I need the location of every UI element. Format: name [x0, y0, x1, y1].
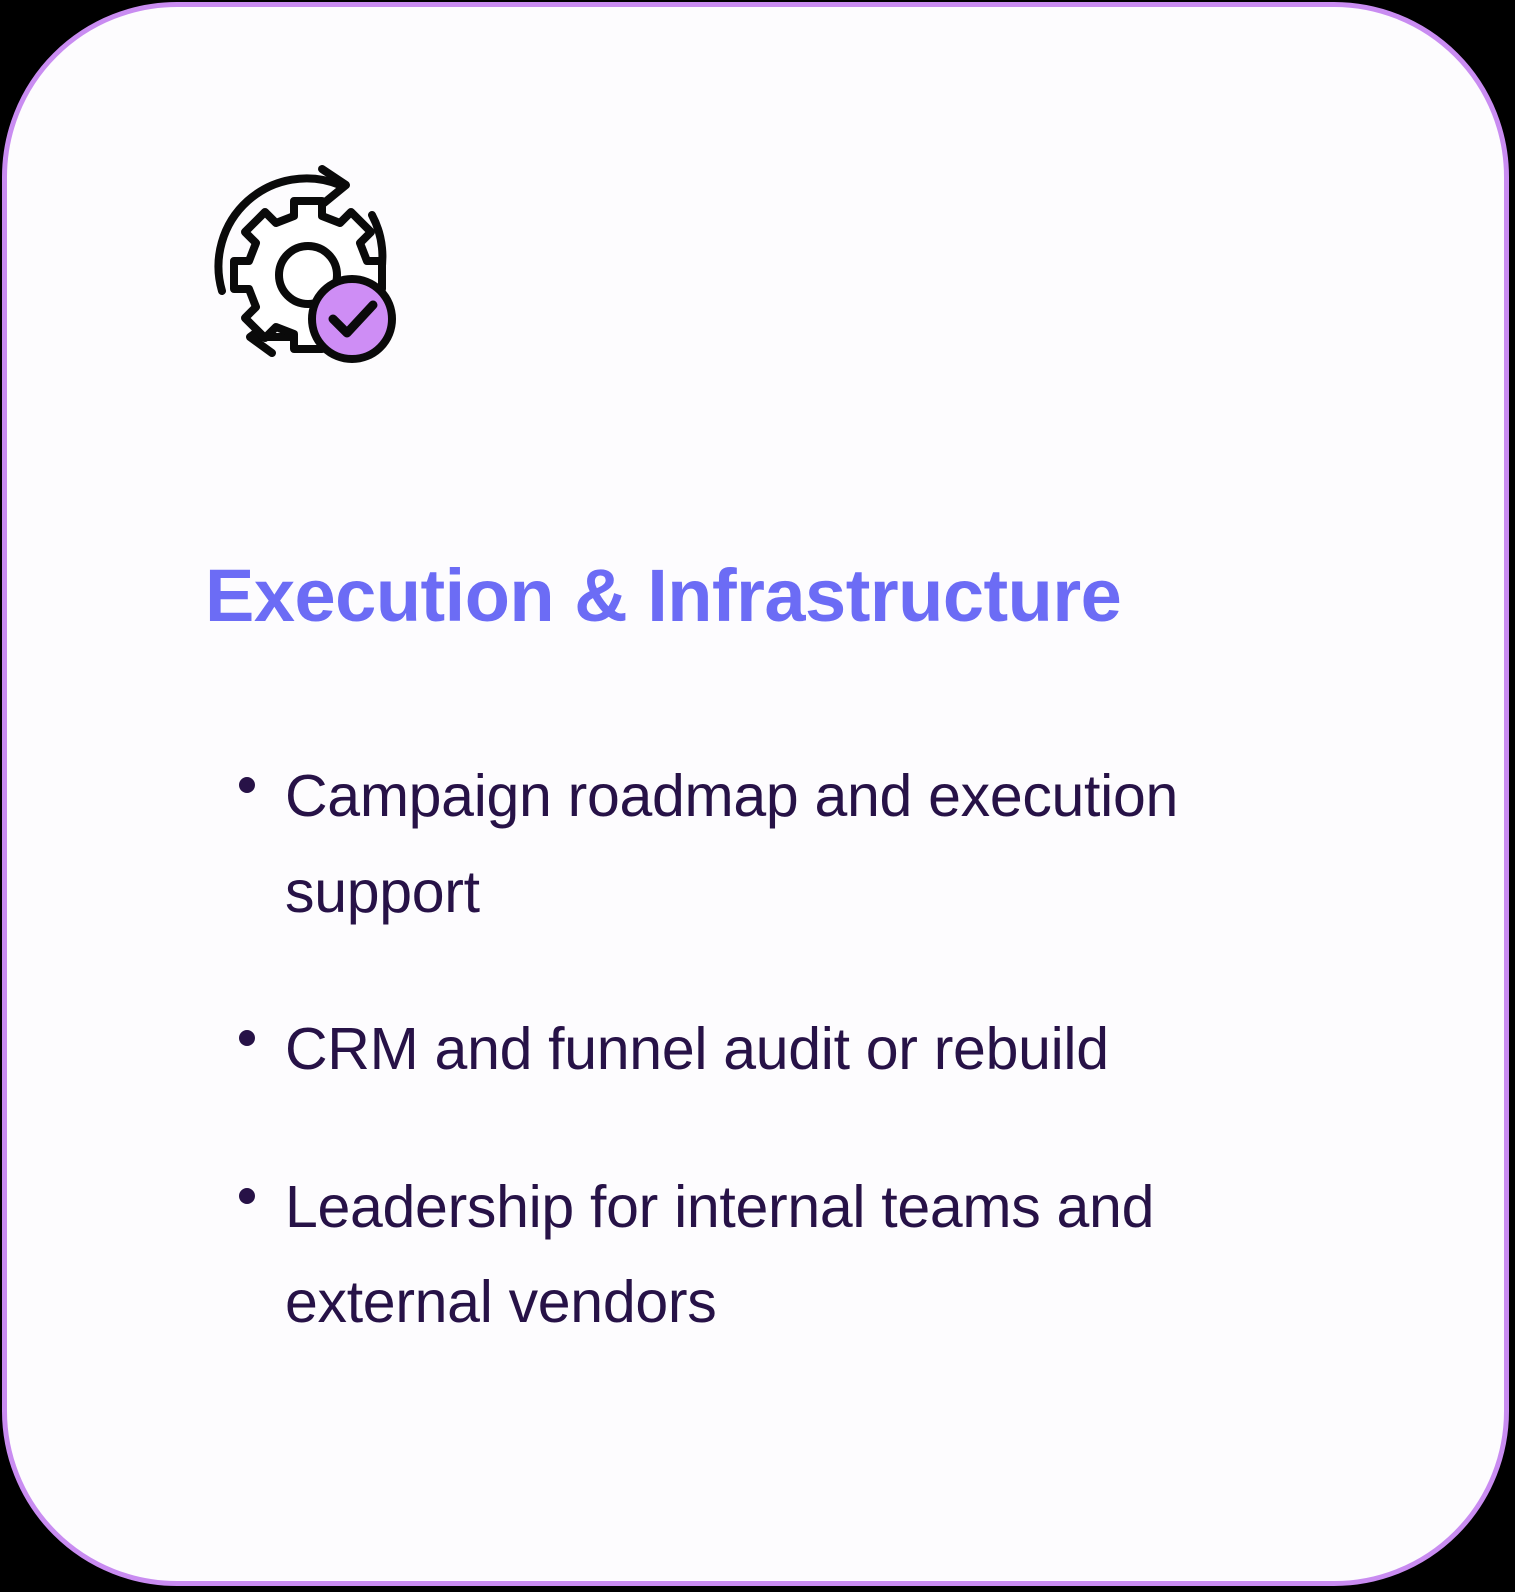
- list-item-label: CRM and funnel audit or rebuild: [285, 1002, 1299, 1098]
- gear-refresh-check-icon-svg: [200, 159, 416, 375]
- feature-card: Execution & Infrastructure Campaign road…: [2, 2, 1509, 1586]
- card-title: Execution & Infrastructure: [205, 557, 1355, 635]
- check-badge-icon: [312, 279, 392, 359]
- page-root: Execution & Infrastructure Campaign road…: [0, 0, 1515, 1592]
- list-item-label: Leadership for internal teams and extern…: [285, 1160, 1299, 1351]
- list-item: CRM and funnel audit or rebuild: [239, 1002, 1299, 1098]
- gear-refresh-check-icon: [200, 159, 416, 375]
- list-item: Leadership for internal teams and extern…: [239, 1160, 1299, 1351]
- feature-list: Campaign roadmap and execution support C…: [239, 749, 1299, 1351]
- bullet-dot-icon: [239, 777, 255, 793]
- bullet-dot-icon: [239, 1188, 255, 1204]
- list-item: Campaign roadmap and execution support: [239, 749, 1299, 940]
- list-item-label: Campaign roadmap and execution support: [285, 749, 1299, 940]
- bullet-dot-icon: [239, 1030, 255, 1046]
